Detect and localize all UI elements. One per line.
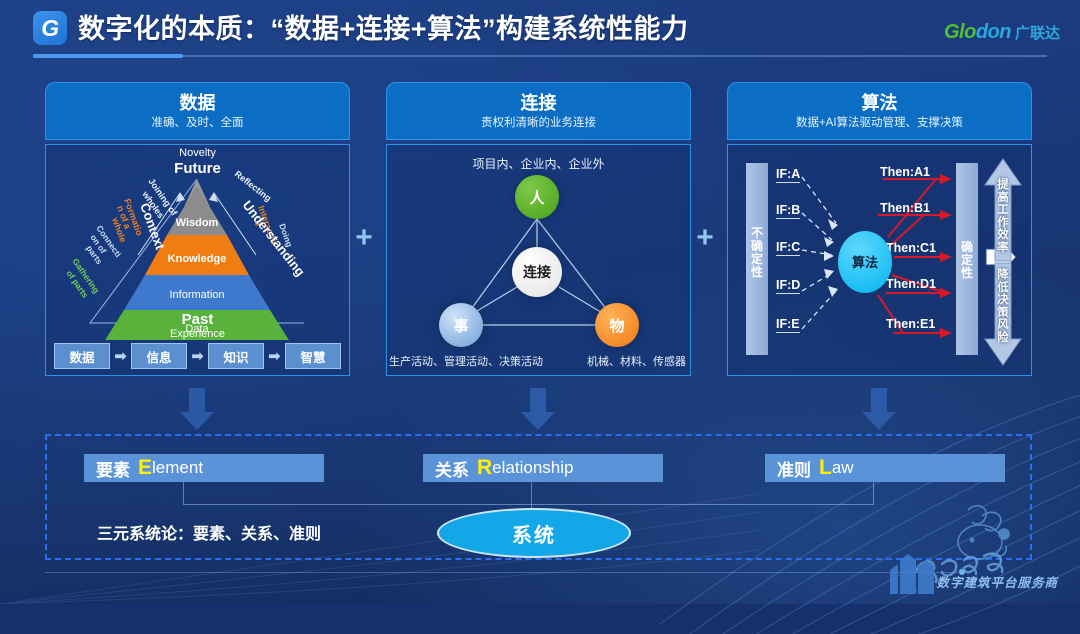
if-label-2: IF:C: [776, 240, 800, 256]
connection-top-caption: 项目内、企业内、企业外: [387, 155, 690, 172]
pyramid-novelty-label: Novelty: [46, 147, 349, 159]
chain-arrow-icon: ➡: [191, 347, 204, 365]
certainty-label: 确定性: [959, 241, 975, 280]
chain-item-0: 数据: [54, 343, 110, 369]
connector-v-element: [183, 482, 184, 504]
connector-v-law: [873, 482, 874, 504]
slide-canvas: G 数字化的本质：“数据+连接+算法”构建系统性能力 Glo don 广联达 数…: [0, 0, 1080, 604]
page-title: 数字化的本质：“数据+连接+算法”构建系统性能力: [78, 9, 689, 49]
svg-text:Knowledge: Knowledge: [168, 253, 227, 265]
watermark-slogan: 数字建筑平台服务商: [936, 572, 1058, 591]
tag-relationship: 关系 R elationship: [423, 454, 663, 482]
if-label-4: IF:E: [776, 317, 800, 333]
panel-algorithm-subtitle: 数据+AI算法驱动管理、支撑决策: [796, 115, 963, 131]
chain-arrow-icon: ➡: [268, 347, 281, 365]
then-label-4: Then:E1: [886, 317, 935, 331]
connector-rail: [183, 504, 874, 505]
panel-connection-subtitle: 责权利清晰的业务连接: [481, 115, 596, 131]
if-label-0: IF:A: [776, 167, 800, 183]
panel-connection: 连接 责权利清晰的业务连接 项目内、企业内、企业外 人 连接 事 物 生产活动、…: [386, 82, 691, 376]
down-arrow-icon-3: [862, 388, 896, 430]
panel-algorithm-header: 算法 数据+AI算法驱动管理、支撑决策: [727, 82, 1032, 140]
plus-icon-1: +: [351, 225, 377, 251]
chain-arrow-icon: ➡: [114, 347, 127, 365]
svg-text:Wisdom: Wisdom: [176, 217, 219, 229]
connection-left-caption: 生产活动、管理活动、决策活动: [389, 353, 543, 369]
chain-item-3: 智慧: [285, 343, 341, 369]
panel-algorithm-title: 算法: [862, 92, 898, 114]
tag-law-cn: 准则: [777, 456, 811, 481]
chain-item-1: 信息: [131, 343, 187, 369]
system-node[interactable]: 系统: [437, 508, 631, 558]
panel-data-title: 数据: [180, 92, 216, 114]
down-arrow-icon-1: [180, 388, 214, 430]
tag-element-initial: E: [138, 456, 152, 480]
tag-relationship-initial: R: [477, 456, 492, 480]
panel-algorithm-body: 不确定性 确定性 IF:A IF:B IF:C IF:D IF:E Then:A…: [727, 144, 1032, 376]
connection-right-caption: 机械、材料、传感器: [587, 353, 686, 369]
plus-icon-2: +: [692, 225, 718, 251]
tag-element-cn: 要素: [96, 456, 130, 481]
panel-data: 数据 准确、及时、全面 Wisdom Knowle: [45, 82, 350, 376]
if-label-3: IF:D: [776, 278, 800, 294]
connector-v-relationship: [531, 482, 532, 504]
if-label-1: IF:B: [776, 203, 800, 219]
header-divider-accent: [33, 54, 183, 58]
header-bar: G 数字化的本质：“数据+连接+算法”构建系统性能力 Glo don 广联达: [0, 0, 1080, 60]
pyramid-future-label: Future: [46, 160, 349, 177]
panel-data-header: 数据 准确、及时、全面: [45, 82, 350, 140]
then-label-3: Then:D1: [886, 277, 936, 291]
tag-relationship-rest: elationship: [492, 458, 573, 478]
then-label-0: Then:A1: [880, 165, 930, 179]
then-label-1: Then:B1: [880, 201, 930, 215]
node-lianjie[interactable]: 连接: [512, 247, 562, 297]
panel-connection-body: 项目内、企业内、企业外 人 连接 事 物 生产活动、管理活动、决策活动 机械、材…: [386, 144, 691, 376]
tag-law: 准则 L aw: [765, 454, 1005, 482]
header-divider: [33, 55, 1047, 57]
chain-item-2: 知识: [208, 343, 264, 369]
svg-text:Understanding: Understanding: [240, 198, 308, 280]
brand-logo: Glo don 广联达: [944, 20, 1060, 44]
glodon-g-icon: G: [33, 11, 67, 45]
brand-logo-part1: Glo: [944, 21, 976, 44]
outcome-up-label: 提高工作效率: [996, 179, 1010, 254]
panel-algorithm: 算法 数据+AI算法驱动管理、支撑决策: [727, 82, 1032, 376]
outcome-down-label: 降低决策风险: [996, 269, 1010, 344]
three-element-theory-text: 三元系统论：要素、关系、准则: [97, 520, 321, 544]
panel-data-subtitle: 准确、及时、全面: [152, 115, 244, 131]
then-label-2: Then:C1: [886, 241, 936, 255]
tag-element: 要素 E lement: [84, 454, 324, 482]
uncertainty-label: 不确定性: [749, 227, 765, 279]
algorithm-node[interactable]: 算法: [838, 231, 892, 293]
svg-text:Information: Information: [169, 289, 224, 301]
tag-relationship-cn: 关系: [435, 456, 469, 481]
tag-element-rest: lement: [152, 458, 203, 478]
down-arrow-icon-2: [521, 388, 555, 430]
panel-connection-header: 连接 责权利清晰的业务连接: [386, 82, 691, 140]
node-ren[interactable]: 人: [515, 175, 559, 219]
pyramid-experience-label: Experience: [46, 328, 349, 340]
node-shi[interactable]: 事: [439, 303, 483, 347]
panel-data-body: Wisdom Knowledge Information Data Joinin…: [45, 144, 350, 376]
bottom-divider: [45, 572, 965, 573]
brand-logo-part2: don: [976, 21, 1011, 44]
pyramid-past-label: Past: [46, 311, 349, 328]
brand-logo-cn: 广联达: [1015, 22, 1060, 43]
node-wu[interactable]: 物: [595, 303, 639, 347]
dikw-chain: 数据 ➡ 信息 ➡ 知识 ➡ 智慧: [54, 343, 341, 369]
tag-law-rest: aw: [832, 458, 854, 478]
tag-law-initial: L: [819, 456, 832, 480]
panel-connection-title: 连接: [521, 92, 557, 114]
